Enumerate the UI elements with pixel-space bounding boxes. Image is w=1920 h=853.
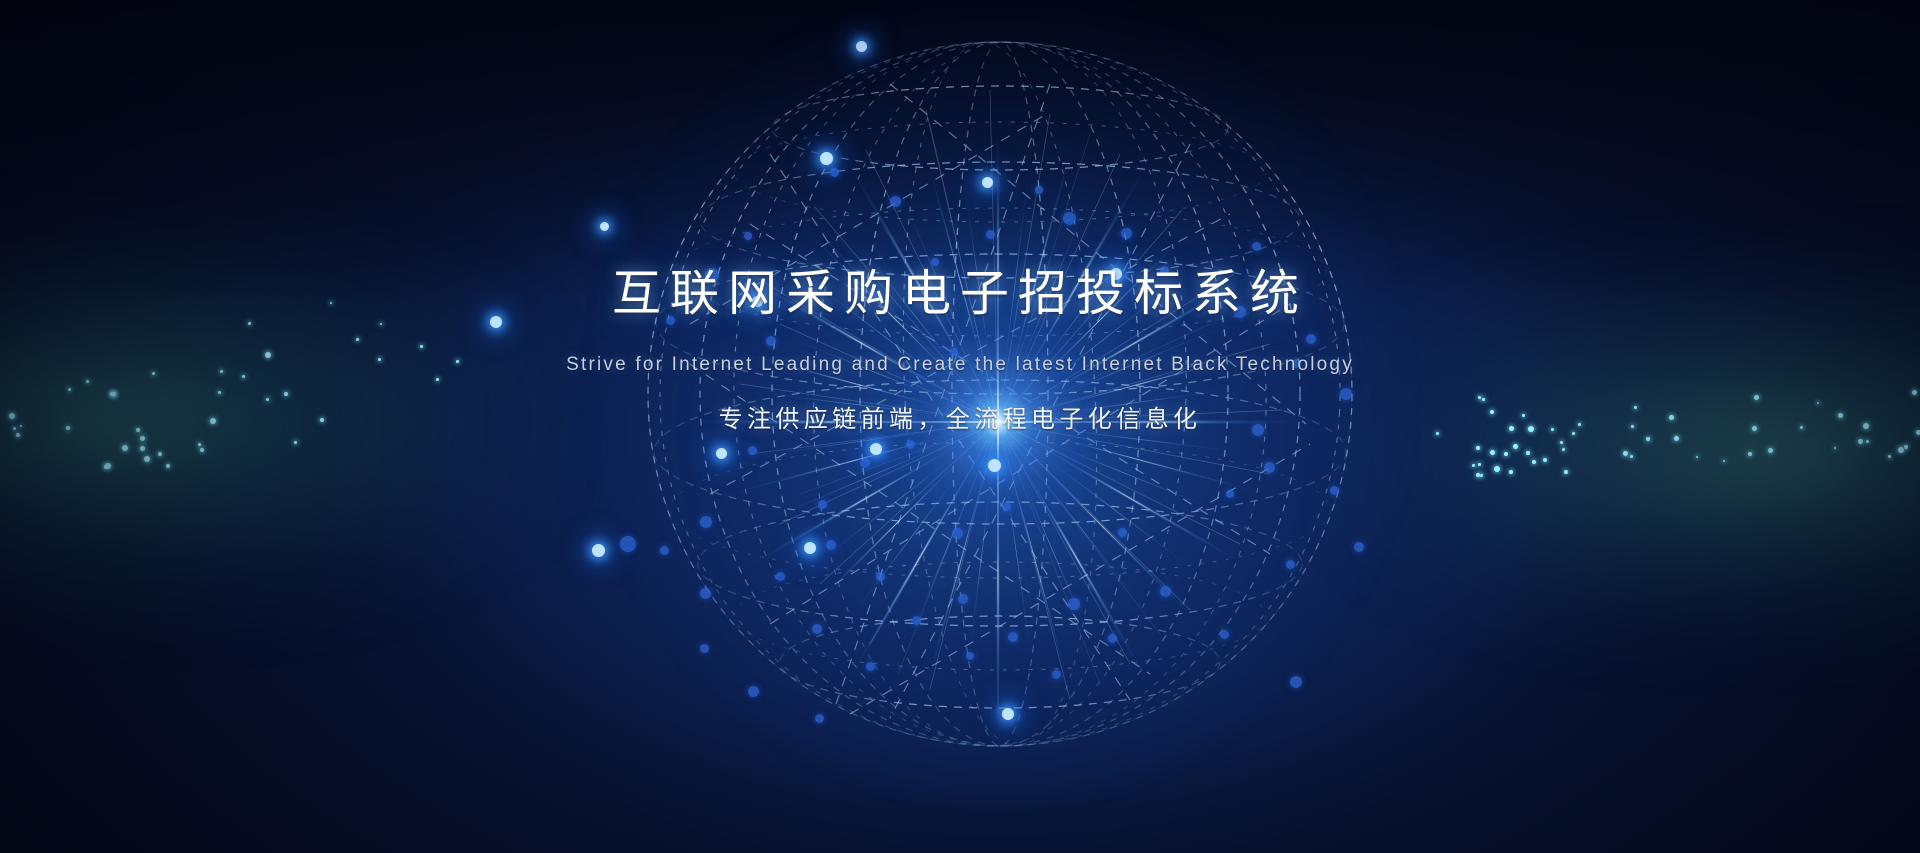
hero-text-block: 互联网采购电子招投标系统 Strive for Internet Leading…	[0, 268, 1920, 434]
subtitle-cn: 专注供应链前端，全流程电子化信息化	[0, 399, 1920, 434]
page-title: 互联网采购电子招投标系统	[0, 268, 1920, 322]
hero-banner: 互联网采购电子招投标系统 Strive for Internet Leading…	[0, 0, 1920, 853]
subtitle-en: Strive for Internet Leading and Create t…	[0, 354, 1920, 376]
